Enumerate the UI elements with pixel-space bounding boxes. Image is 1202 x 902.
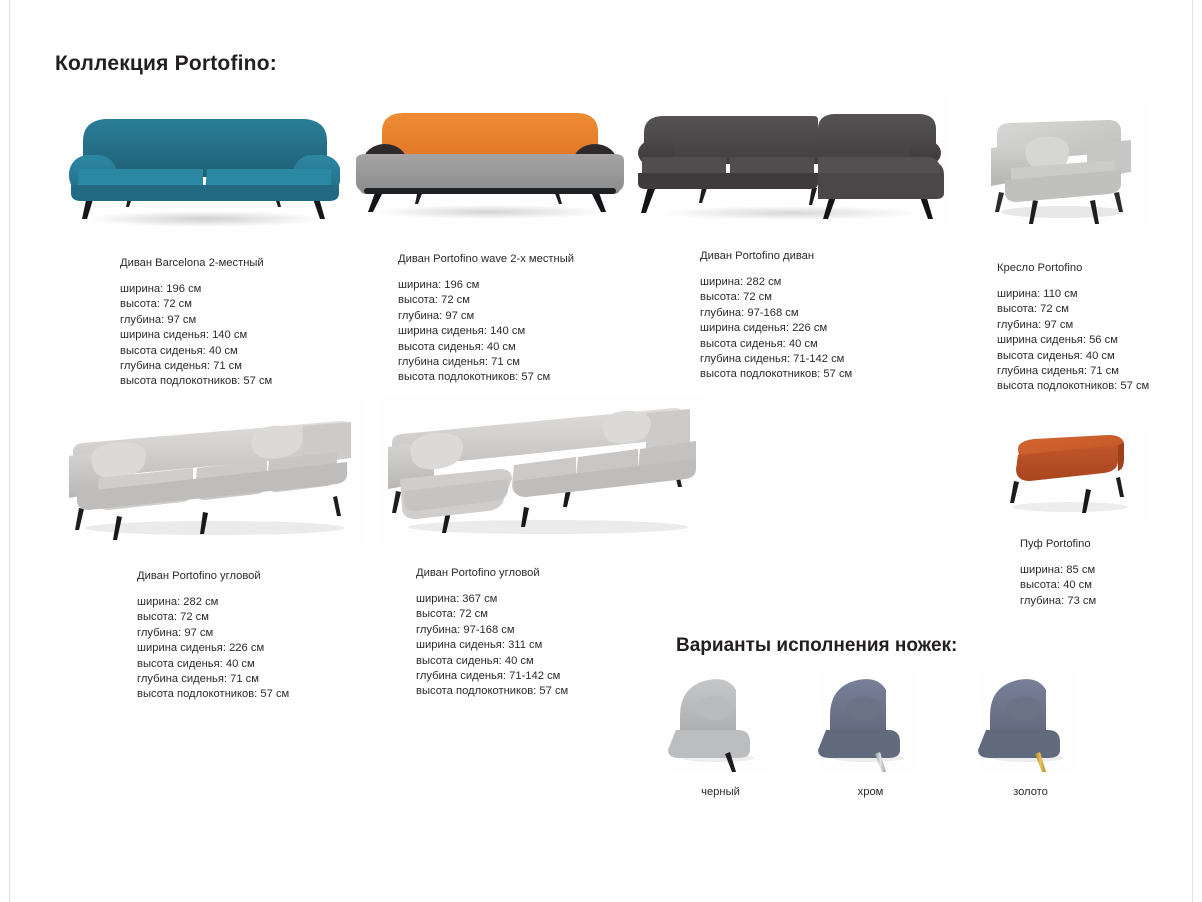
spec-line: глубина сиденья: 71 см	[137, 672, 385, 687]
product-card-divan-portofino-wave-2[interactable]: Диван Portofino wave 2-х местный ширина:…	[340, 90, 670, 386]
spec-line: глубина: 97-168 см	[700, 306, 960, 321]
spec-line: высота: 40 см	[1020, 578, 1190, 593]
spec-line: глубина сиденья: 71 см	[997, 364, 1190, 379]
spec-line: высота: 72 см	[700, 290, 960, 305]
product-image-divan-barcelona-2	[55, 95, 355, 235]
spec-line: высота сиденья: 40 см	[700, 337, 960, 352]
product-image-divan-portofino-wave-2	[340, 90, 640, 230]
spec-line: высота сиденья: 40 см	[137, 657, 385, 672]
spec-line: ширина: 367 см	[416, 592, 708, 607]
page-edge-left	[9, 0, 10, 902]
product-image-kreslo-portofino	[975, 100, 1150, 228]
product-card-divan-portofino-uglovoy-282[interactable]: Диван Portofino угловой ширина: 282 см в…	[55, 400, 385, 703]
product-specs: ширина: 85 см высота: 40 см глубина: 73 …	[1020, 563, 1190, 609]
leg-variant-image-gold	[978, 668, 1078, 773]
product-name: Диван Portofino угловой	[137, 570, 385, 582]
spec-line: высота подлокотников: 57 см	[997, 379, 1190, 394]
spec-line: глубина: 73 см	[1020, 594, 1190, 609]
leg-variant-label: золото	[978, 786, 1083, 798]
spec-line: ширина: 282 см	[700, 275, 960, 290]
product-name: Диван Portofino диван	[700, 250, 960, 262]
product-image-divan-portofino-uglovoy-282	[55, 400, 365, 550]
spec-line: глубина: 97-168 см	[416, 623, 708, 638]
product-specs: ширина: 367 см высота: 72 см глубина: 97…	[416, 592, 708, 700]
product-image-divan-portofino-divan	[630, 95, 950, 230]
spec-line: глубина: 97 см	[137, 626, 385, 641]
legs-section-title: Варианты исполнения ножек:	[676, 635, 957, 657]
product-name: Кресло Portofino	[997, 262, 1190, 274]
product-image-divan-portofino-uglovoy-367	[378, 395, 708, 545]
product-card-divan-portofino-uglovoy-367[interactable]: Диван Portofino угловой ширина: 367 см в…	[378, 395, 708, 700]
spec-line: высота сиденья: 40 см	[997, 349, 1190, 364]
spec-line: ширина: 282 см	[137, 595, 385, 610]
product-specs: ширина: 110 см высота: 72 см глубина: 97…	[997, 287, 1190, 395]
spec-line: ширина: 110 см	[997, 287, 1190, 302]
spec-line: высота подлокотников: 57 см	[137, 687, 385, 702]
leg-variant-image-chrome	[818, 668, 918, 773]
spec-line: ширина сиденья: 226 см	[700, 321, 960, 336]
spec-line: высота: 72 см	[416, 607, 708, 622]
spec-line: ширина: 85 см	[1020, 563, 1190, 578]
product-card-divan-portofino-divan[interactable]: Диван Portofino диван ширина: 282 см выс…	[630, 95, 960, 383]
leg-variant-leg-black[interactable]: черный	[668, 668, 773, 798]
leg-variant-label: хром	[818, 786, 923, 798]
product-card-divan-barcelona-2[interactable]: Диван Barcelona 2-местный ширина: 196 см…	[55, 95, 385, 390]
spec-line: глубина сиденья: 71-142 см	[416, 669, 708, 684]
page-title: Коллекция Portofino:	[55, 52, 277, 76]
spec-line: ширина сиденья: 311 см	[416, 638, 708, 653]
spec-line: глубина сиденья: 71-142 см	[700, 352, 960, 367]
leg-variant-leg-gold[interactable]: золото	[978, 668, 1083, 798]
leg-variant-label: черный	[668, 786, 773, 798]
product-specs: ширина: 282 см высота: 72 см глубина: 97…	[700, 275, 960, 383]
leg-variant-image-black	[668, 668, 768, 773]
spec-line: глубина: 97 см	[997, 318, 1190, 333]
product-name: Пуф Portofino	[1020, 538, 1190, 550]
spec-line: высота подлокотников: 57 см	[416, 684, 708, 699]
spec-line: высота подлокотников: 57 см	[700, 367, 960, 382]
spec-line: ширина сиденья: 226 см	[137, 641, 385, 656]
catalog-page: Коллекция Portofino:	[0, 0, 1202, 902]
product-card-puf-portofino[interactable]: Пуф Portofino ширина: 85 см высота: 40 с…	[990, 425, 1190, 609]
page-edge-right	[1192, 0, 1193, 902]
product-image-puf-portofino	[990, 425, 1150, 520]
product-name: Диван Portofino угловой	[416, 567, 708, 579]
spec-line: высота: 72 см	[137, 610, 385, 625]
leg-variant-leg-chrome[interactable]: хром	[818, 668, 923, 798]
spec-line: ширина сиденья: 56 см	[997, 333, 1190, 348]
product-card-kreslo-portofino[interactable]: Кресло Portofino ширина: 110 см высота: …	[975, 100, 1190, 395]
spec-line: высота: 72 см	[997, 302, 1190, 317]
product-specs: ширина: 282 см высота: 72 см глубина: 97…	[137, 595, 385, 703]
spec-line: высота сиденья: 40 см	[416, 654, 708, 669]
